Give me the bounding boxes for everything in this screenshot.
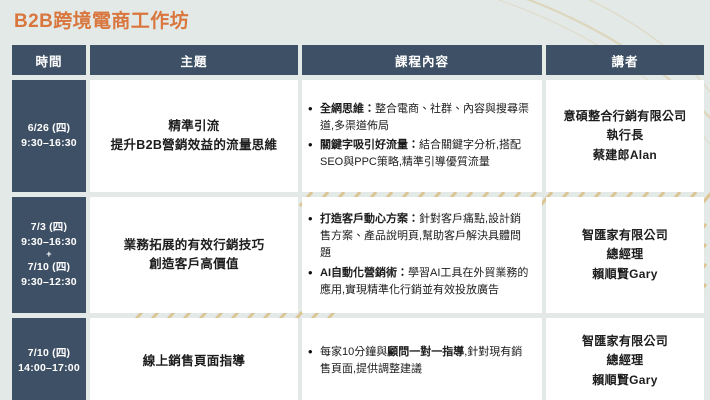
content-bullet-item: 每家10分鐘與顧問一對一指導,針對現有銷售頁面,提供調整建議 (306, 344, 532, 378)
content-bullet-lead: 打造客戶動心方案： (320, 213, 419, 225)
table-header-row: 時間 主題 課程內容 講者 (12, 45, 704, 75)
speaker-title: 總經理 (552, 245, 698, 264)
speaker-name: 蔡建郎Alan (552, 146, 698, 165)
time-line: 9:30–12:30 (12, 275, 86, 290)
schedule-table: 時間 主題 課程內容 講者 6/26 (四)9:30–16:30精準引流提升B2… (8, 40, 708, 400)
speaker-company: 智匯家有限公司 (552, 226, 698, 245)
speaker-company: 意碩整合行銷有限公司 (552, 107, 698, 126)
time-plus-separator: + (12, 250, 86, 260)
content-bullet-lead: 全網思維： (320, 103, 375, 115)
time-line: 9:30–16:30 (12, 136, 86, 151)
column-header-time: 時間 (12, 45, 86, 75)
speaker-company: 智匯家有限公司 (552, 332, 698, 351)
speaker-name: 賴順賢Gary (552, 371, 698, 390)
speaker-title: 執行長 (552, 126, 698, 145)
time-line: 7/10 (四) (12, 260, 86, 275)
column-header-speaker: 講者 (546, 45, 704, 75)
schedule-content-cell: 打造客戶動心方案：針對客戶痛點,設計銷售方案、產品說明頁,幫助客戶解決具體問題A… (302, 197, 542, 313)
content-bullet-list: 全網思維：整合電商、社群、內容與搜尋渠道,多渠道佈局關鍵字吸引好流量：結合關鍵字… (306, 101, 532, 171)
schedule-time-cell: 7/10 (四)14:00–17:00 (12, 318, 86, 400)
table-header: 時間 主題 課程內容 講者 (12, 45, 704, 75)
column-header-topic: 主題 (90, 45, 298, 75)
schedule-speaker-cell: 智匯家有限公司總經理賴順賢Gary (546, 318, 704, 400)
time-line: 14:00–17:00 (12, 361, 86, 376)
content-bullet-emphasis: 顧問一對一指導 (387, 346, 464, 358)
content-bullet-item: 全網思維：整合電商、社群、內容與搜尋渠道,多渠道佈局 (306, 101, 532, 135)
schedule-content-cell: 全網思維：整合電商、社群、內容與搜尋渠道,多渠道佈局關鍵字吸引好流量：結合關鍵字… (302, 80, 542, 192)
content-bullet-lead: AI自動化營銷術： (320, 267, 408, 279)
schedule-topic-cell: 線上銷售頁面指導 (90, 318, 298, 400)
time-line: 9:30–16:30 (12, 235, 86, 250)
time-line: 6/26 (四) (12, 121, 86, 136)
time-line: 7/3 (四) (12, 220, 86, 235)
content-bullet-lead: 關鍵字吸引好流量： (320, 139, 419, 151)
time-line: 7/10 (四) (12, 346, 86, 361)
schedule-speaker-cell: 意碩整合行銷有限公司執行長蔡建郎Alan (546, 80, 704, 192)
content-bullet-item: 關鍵字吸引好流量：結合關鍵字分析,搭配SEO與PPC策略,精準引導優質流量 (306, 137, 532, 171)
content-bullet-item: AI自動化營銷術：學習AI工具在外貿業務的應用,實現精準化行銷並有效投放廣告 (306, 265, 532, 299)
topic-line: 精準引流 (98, 117, 290, 136)
content-bullet-text: 每家10分鐘與 (320, 346, 387, 358)
topic-line: 業務拓展的有效行銷技巧 (98, 236, 290, 255)
table-row: 7/10 (四)14:00–17:00線上銷售頁面指導每家10分鐘與顧問一對一指… (12, 318, 704, 400)
schedule-content-cell: 每家10分鐘與顧問一對一指導,針對現有銷售頁面,提供調整建議 (302, 318, 542, 400)
schedule-time-cell: 6/26 (四)9:30–16:30 (12, 80, 86, 192)
topic-line: 創造客戶高價值 (98, 255, 290, 274)
topic-line: 線上銷售頁面指導 (98, 352, 290, 371)
page-title: B2B跨境電商工作坊 (14, 6, 189, 33)
table-body: 6/26 (四)9:30–16:30精準引流提升B2B營銷效益的流量思維全網思維… (12, 80, 704, 400)
content-bullet-item: 打造客戶動心方案：針對客戶痛點,設計銷售方案、產品說明頁,幫助客戶解決具體問題 (306, 211, 532, 262)
schedule-topic-cell: 精準引流提升B2B營銷效益的流量思維 (90, 80, 298, 192)
column-header-content: 課程內容 (302, 45, 542, 75)
schedule-topic-cell: 業務拓展的有效行銷技巧創造客戶高價值 (90, 197, 298, 313)
table-row: 6/26 (四)9:30–16:30精準引流提升B2B營銷效益的流量思維全網思維… (12, 80, 704, 192)
schedule-speaker-cell: 智匯家有限公司總經理賴順賢Gary (546, 197, 704, 313)
table-row: 7/3 (四)9:30–16:30+7/10 (四)9:30–12:30業務拓展… (12, 197, 704, 313)
content-bullet-list: 打造客戶動心方案：針對客戶痛點,設計銷售方案、產品說明頁,幫助客戶解決具體問題A… (306, 211, 532, 298)
speaker-title: 總經理 (552, 351, 698, 370)
content-bullet-list: 每家10分鐘與顧問一對一指導,針對現有銷售頁面,提供調整建議 (306, 344, 532, 378)
speaker-name: 賴順賢Gary (552, 265, 698, 284)
topic-line: 提升B2B營銷效益的流量思維 (98, 136, 290, 155)
schedule-time-cell: 7/3 (四)9:30–16:30+7/10 (四)9:30–12:30 (12, 197, 86, 313)
